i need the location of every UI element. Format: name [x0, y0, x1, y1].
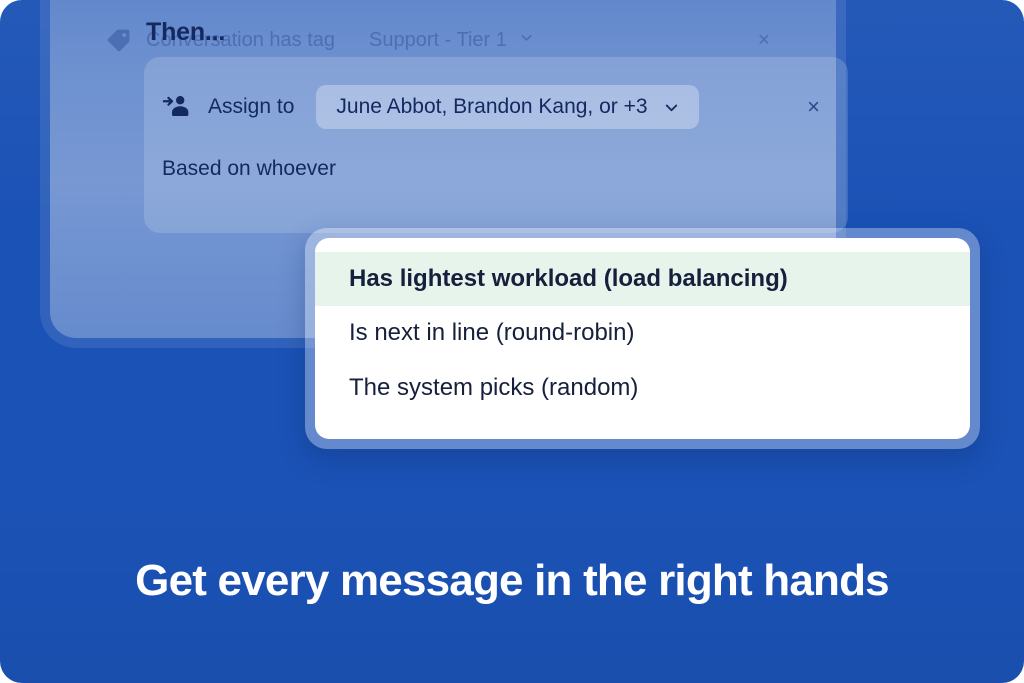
based-on-row: Based on whoever	[162, 149, 336, 189]
tag-icon	[106, 27, 132, 53]
condition-value-dropdown[interactable]: Support - Tier 1	[369, 29, 535, 52]
assignment-strategy-dropdown: Has lightest workload (load balancing) I…	[305, 228, 980, 449]
assignees-value-text: June Abbot, Brandon Kang, or +3	[336, 95, 647, 119]
action-block: Assign to June Abbot, Brandon Kang, or +…	[144, 57, 848, 233]
remove-condition-button[interactable]: ×	[758, 30, 770, 51]
remove-action-button[interactable]: ×	[807, 96, 820, 118]
page-headline: Get every message in the right hands	[0, 556, 1024, 606]
dropdown-option-round-robin[interactable]: Is next in line (round-robin)	[315, 306, 970, 360]
assign-row: Assign to June Abbot, Brandon Kang, or +…	[162, 81, 830, 133]
assign-to-label: Assign to	[208, 95, 294, 119]
assignees-dropdown[interactable]: June Abbot, Brandon Kang, or +3	[316, 85, 698, 129]
dropdown-option-random[interactable]: The system picks (random)	[315, 361, 970, 415]
dropdown-menu: Has lightest workload (load balancing) I…	[315, 238, 970, 439]
based-on-label: Based on whoever	[162, 157, 336, 181]
chevron-down-icon	[662, 98, 681, 117]
dropdown-option-load-balancing[interactable]: Has lightest workload (load balancing)	[315, 252, 970, 306]
then-heading: Then...	[146, 18, 225, 47]
promo-stage: Conversation has tag Support - Tier 1 × …	[0, 0, 1024, 683]
chevron-down-icon	[518, 29, 535, 52]
assign-person-icon	[162, 93, 190, 121]
condition-value-text: Support - Tier 1	[369, 29, 507, 52]
